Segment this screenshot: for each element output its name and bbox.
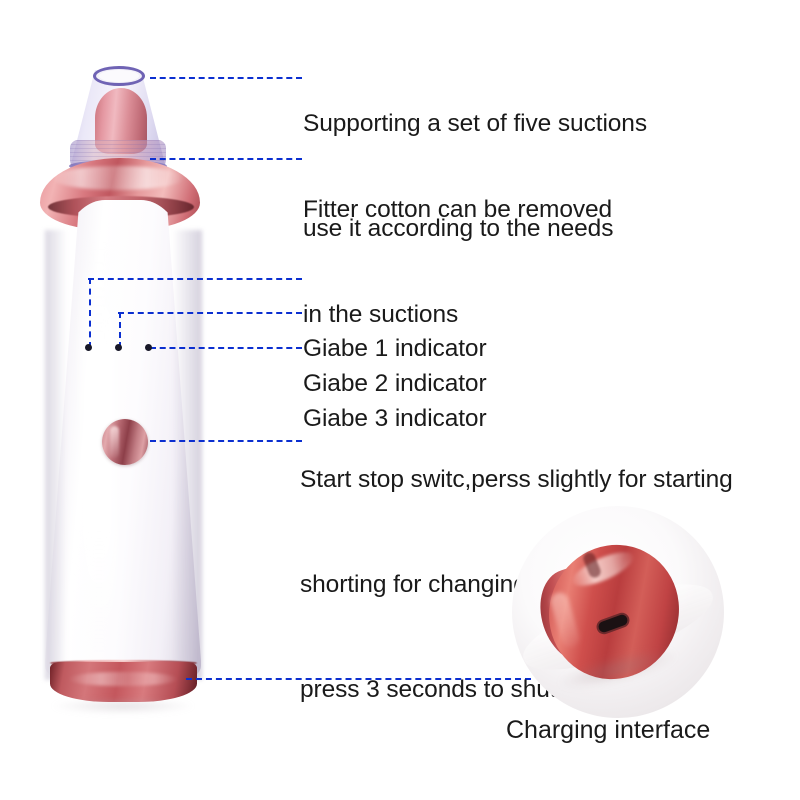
indicator-dot-3	[145, 344, 152, 351]
body-shade-left	[45, 230, 67, 680]
infographic-canvas: Supporting a set of five suctions use it…	[0, 0, 800, 800]
leader-line-indicator-1-horizontal	[88, 278, 302, 280]
power-button-gloss	[110, 426, 119, 458]
leader-line-filter-cotton	[150, 158, 302, 160]
suction-nozzle-opening	[99, 70, 139, 82]
charging-interface-inset	[512, 506, 724, 718]
annotation-filter-cotton-line-1: Fitter cotton can be removed	[303, 192, 612, 227]
indicator-dot-2	[115, 344, 122, 351]
annotation-power-switch-line-1: Start stop switc,perss slightly for star…	[300, 462, 733, 497]
base-gloss-highlight	[68, 672, 178, 686]
leader-line-power-switch	[150, 440, 302, 442]
leader-line-indicator-3	[150, 347, 302, 349]
leader-line-indicator-2-horizontal	[118, 312, 302, 314]
indicator-dot-1	[85, 344, 92, 351]
body-shade-right	[172, 230, 202, 680]
charging-interface-caption: Charging interface	[506, 716, 710, 745]
power-button[interactable]	[102, 419, 148, 465]
leader-line-suctions	[150, 77, 302, 79]
leader-line-indicator-1-vertical	[89, 278, 91, 348]
head-gloss-highlight	[52, 166, 184, 190]
leader-line-indicator-2-vertical	[119, 312, 121, 348]
device-illustration	[0, 0, 260, 790]
device-drop-shadow	[52, 698, 194, 714]
